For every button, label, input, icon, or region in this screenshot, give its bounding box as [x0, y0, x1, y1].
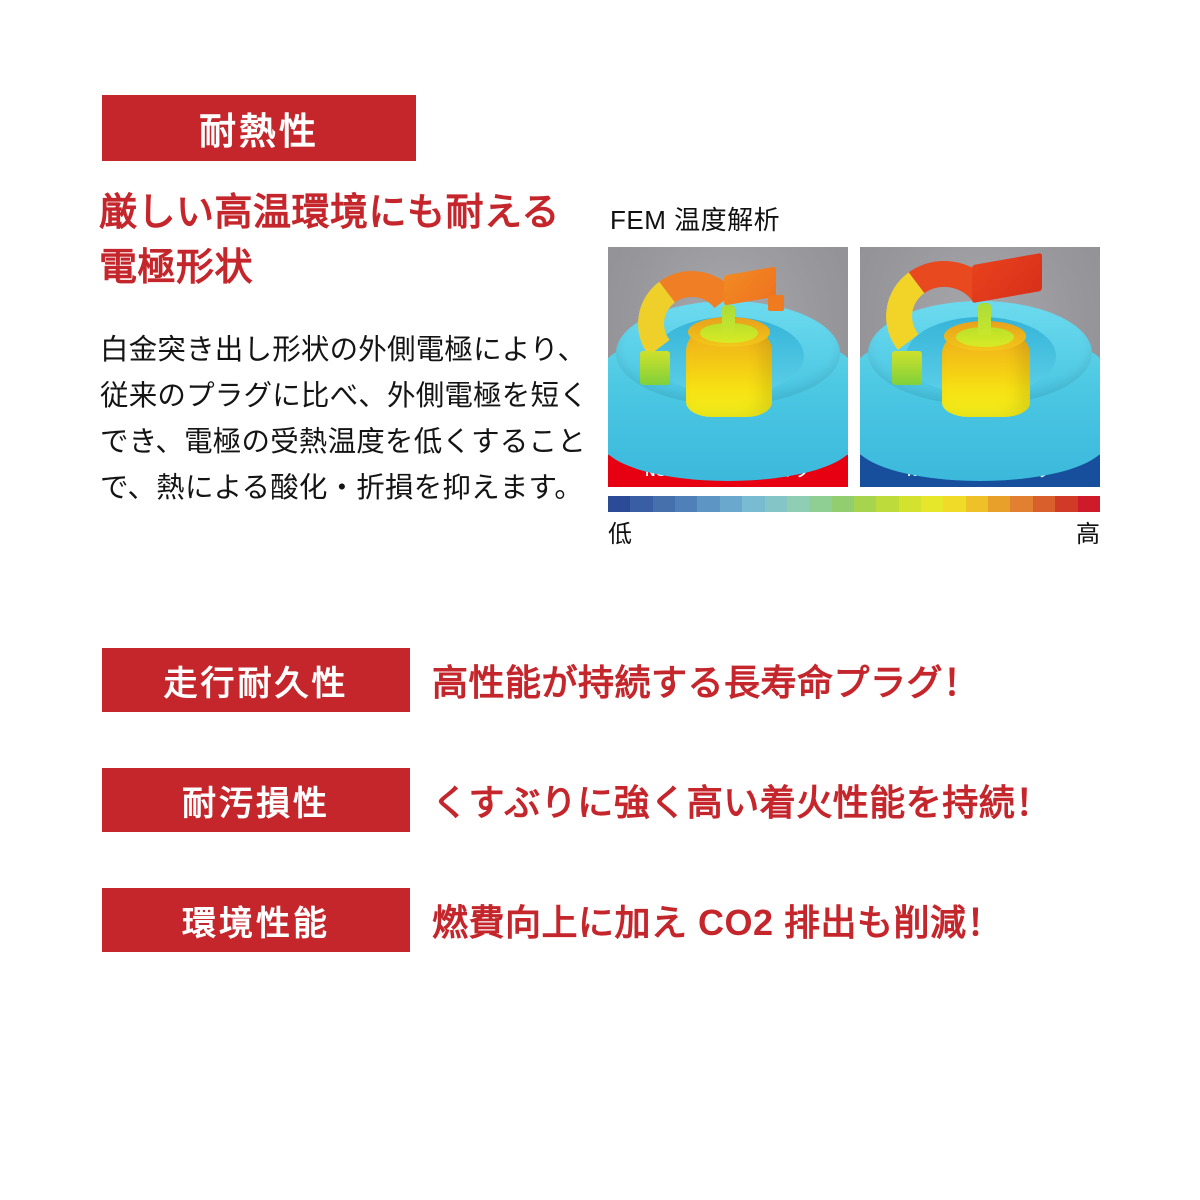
fem-scale-swatch-18	[1010, 496, 1032, 512]
fem-analysis-figure: FEM 温度解析 NGKプレミアムRXプラグ	[608, 200, 1100, 549]
fem-scale-swatch-3	[675, 496, 697, 512]
body-line-2: 従来のプラグに比べ、外側電極を短く	[100, 373, 590, 419]
fem-figure-title: FEM 温度解析	[610, 200, 1100, 237]
fem-panel-group: NGKプレミアムRXプラグ NGKイリジウムプラグ	[608, 247, 1100, 487]
plug-electrode-foot-icon	[892, 351, 922, 385]
plug-electrode-nub-icon	[768, 295, 784, 311]
feature-badge-durability: 走行耐久性	[102, 648, 410, 712]
fem-scale-swatch-20	[1055, 496, 1077, 512]
fem-thermal-image-iridium	[860, 247, 1100, 455]
plug-electrode-foot-icon	[640, 351, 670, 385]
feature-rows: 走行耐久性 高性能が持続する長寿命プラグ！ 耐汚損性 くすぶりに強く高い着火性能…	[0, 648, 1200, 1008]
fem-scale-swatch-0	[608, 496, 630, 512]
fem-color-scale-bar	[608, 496, 1100, 512]
headline-line-2: 電極形状	[99, 241, 599, 296]
feature-row-durability: 走行耐久性 高性能が持続する長寿命プラグ！	[0, 648, 1200, 712]
feature-row-environmental: 環境性能 燃費向上に加え CO2 排出も削減！	[0, 888, 1200, 952]
fem-scale-swatch-21	[1078, 496, 1100, 512]
fem-color-scale: 低 高	[608, 496, 1100, 549]
fem-panel-iridium: NGKイリジウムプラグ	[860, 247, 1100, 487]
section-badge-heat-resistance: 耐熱性	[102, 95, 416, 161]
fem-color-scale-labels: 低 高	[608, 514, 1100, 549]
fem-scale-swatch-1	[630, 496, 652, 512]
feature-text-fouling-resistance: くすぶりに強く高い着火性能を持続！	[432, 774, 1052, 826]
feature-badge-fouling-resistance: 耐汚損性	[102, 768, 410, 832]
fem-scale-swatch-8	[787, 496, 809, 512]
feature-text-durability: 高性能が持続する長寿命プラグ！	[432, 654, 980, 706]
fem-scale-swatch-9	[809, 496, 831, 512]
section-body-text: 白金突き出し形状の外側電極により、 従来のプラグに比べ、外側電極を短く でき、電…	[100, 327, 590, 512]
scale-low-label: 低	[608, 514, 632, 549]
body-line-4: で、熱による酸化・折損を抑えます。	[100, 465, 590, 511]
feature-badge-environmental: 環境性能	[102, 888, 410, 952]
feature-text-environmental: 燃費向上に加え CO2 排出も削減！	[432, 894, 1003, 946]
fem-scale-swatch-19	[1033, 496, 1055, 512]
fem-scale-swatch-17	[988, 496, 1010, 512]
fem-scale-swatch-7	[765, 496, 787, 512]
fem-scale-swatch-13	[899, 496, 921, 512]
fem-scale-swatch-2	[653, 496, 675, 512]
fem-scale-swatch-15	[943, 496, 965, 512]
fem-scale-swatch-5	[720, 496, 742, 512]
fem-scale-swatch-12	[876, 496, 898, 512]
fem-scale-swatch-14	[921, 496, 943, 512]
feature-row-fouling-resistance: 耐汚損性 くすぶりに強く高い着火性能を持続！	[0, 768, 1200, 832]
fem-scale-swatch-11	[854, 496, 876, 512]
fem-scale-swatch-4	[697, 496, 719, 512]
body-line-3: でき、電極の受熱温度を低くすること	[100, 419, 590, 465]
scale-high-label: 高	[1076, 514, 1100, 549]
body-line-1: 白金突き出し形状の外側電極により、	[100, 327, 590, 373]
fem-panel-premium-rx: NGKプレミアムRXプラグ	[608, 247, 848, 487]
fem-scale-swatch-6	[742, 496, 764, 512]
section-headline: 厳しい高温環境にも耐える 電極形状	[99, 186, 599, 296]
plug-electrode-tip-icon	[972, 253, 1042, 303]
fem-thermal-image-premium-rx	[608, 247, 848, 455]
fem-scale-swatch-16	[966, 496, 988, 512]
fem-scale-swatch-10	[832, 496, 854, 512]
headline-line-1: 厳しい高温環境にも耐える	[99, 186, 599, 241]
